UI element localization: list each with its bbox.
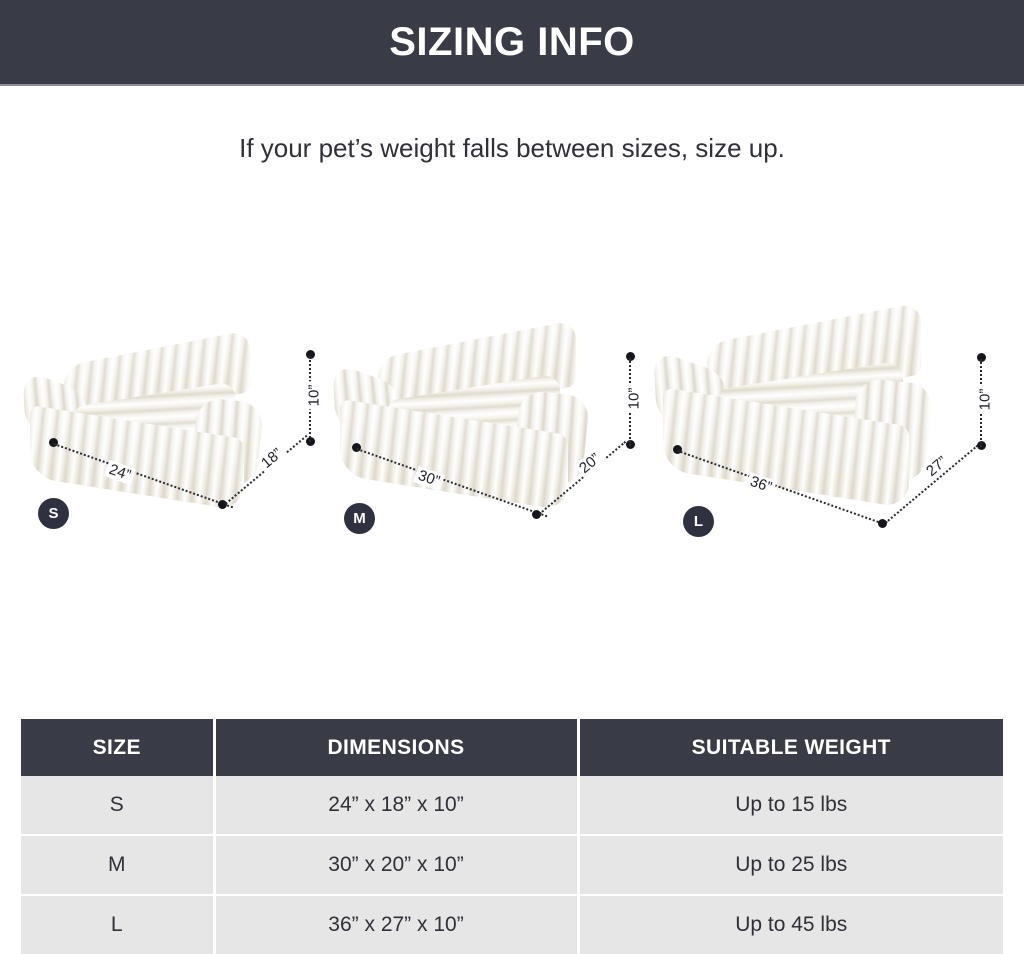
cell-dimensions: 30” x 20” x 10” [214, 835, 578, 895]
cell-weight: Up to 25 lbs [578, 835, 1003, 895]
dim-label-height-large: 10” [976, 386, 993, 414]
bed-illustration-large [655, 323, 945, 508]
column-header-dimensions: DIMENSIONS [214, 719, 578, 776]
bed-diagrams: 24” 18” 10” S [0, 300, 1024, 580]
bed-illustration-medium [330, 333, 600, 508]
cell-weight: Up to 15 lbs [578, 776, 1003, 835]
page-header: SIZING INFO [0, 0, 1024, 86]
cell-size: L [21, 895, 214, 954]
sizing-table: SIZE DIMENSIONS SUITABLE WEIGHT S 24” x … [21, 719, 1003, 954]
page-title: SIZING INFO [389, 22, 635, 62]
size-badge-small: S [38, 498, 69, 529]
column-header-weight: SUITABLE WEIGHT [578, 719, 1003, 776]
size-badge-medium: M [344, 503, 375, 534]
dim-label-height-medium: 10” [625, 385, 642, 413]
cell-dimensions: 24” x 18” x 10” [214, 776, 578, 835]
bed-illustration-small [18, 338, 268, 508]
column-header-size: SIZE [21, 719, 214, 776]
table-row: L 36” x 27” x 10” Up to 45 lbs [21, 895, 1003, 954]
cell-weight: Up to 45 lbs [578, 895, 1003, 954]
cell-size: S [21, 776, 214, 835]
table-row: M 30” x 20” x 10” Up to 25 lbs [21, 835, 1003, 895]
dim-label-height-small: 10” [305, 382, 322, 410]
subtitle-text: If your pet’s weight falls between sizes… [0, 133, 1024, 164]
diagram-small: 24” 18” 10” S [18, 300, 348, 580]
diagram-large: 36” 27” 10” L [655, 300, 985, 580]
cell-dimensions: 36” x 27” x 10” [214, 895, 578, 954]
diagram-medium: 30” 20” 10” M [330, 300, 660, 580]
table-row: S 24” x 18” x 10” Up to 15 lbs [21, 776, 1003, 835]
size-badge-large: L [683, 506, 714, 537]
table-header-row: SIZE DIMENSIONS SUITABLE WEIGHT [21, 719, 1003, 776]
cell-size: M [21, 835, 214, 895]
